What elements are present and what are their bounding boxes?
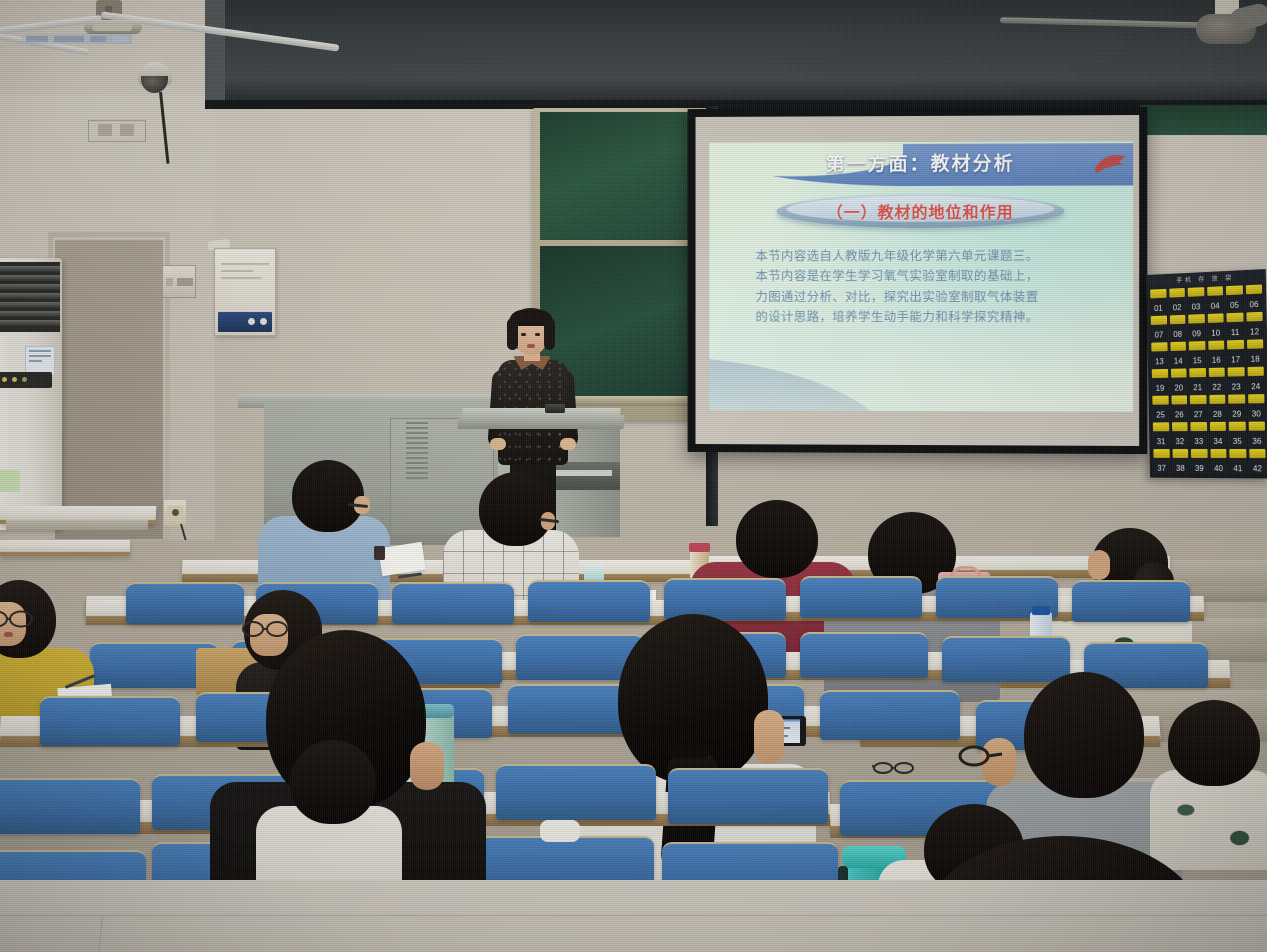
pocket-flap xyxy=(1172,422,1188,431)
pocket-number: 07 xyxy=(1150,330,1168,339)
pocket-number: 26 xyxy=(1170,410,1188,419)
desk-shelf xyxy=(6,520,148,530)
pocket-number: 15 xyxy=(1188,356,1206,365)
pocket-flap xyxy=(1248,394,1265,403)
pocket-flap xyxy=(1246,312,1263,322)
pocket-slot[interactable]: 36 xyxy=(1247,421,1266,447)
pocket-slot[interactable]: 14 xyxy=(1169,341,1187,367)
pocket-flap xyxy=(1151,342,1167,351)
pocket-flap xyxy=(1172,449,1188,458)
floor-seam xyxy=(0,915,1267,916)
pocket-slot[interactable]: 05 xyxy=(1225,284,1244,311)
projection-screen: 第一方面：教材分析 （一）教材的地位和作用 本节内容选自人教版九年级化学第六单元… xyxy=(688,107,1148,454)
pocket-flap xyxy=(1208,340,1224,349)
pocket-number: 08 xyxy=(1169,330,1187,340)
pocket-flap xyxy=(1191,449,1207,458)
lectern-top xyxy=(461,408,620,424)
pocket-slot[interactable]: 32 xyxy=(1171,421,1189,447)
pocket-number: 22 xyxy=(1208,383,1226,392)
ceiling-side-strip xyxy=(205,0,225,108)
pocket-number: 31 xyxy=(1152,437,1170,446)
pocket-slot[interactable]: 02 xyxy=(1168,287,1186,314)
pocket-number: 24 xyxy=(1246,382,1265,391)
pocket-number: 39 xyxy=(1190,464,1208,473)
pocket-number: 38 xyxy=(1171,464,1189,473)
pocket-slot[interactable]: 15 xyxy=(1188,340,1207,366)
slide-title-decoration xyxy=(1093,149,1127,175)
pocket-number: 02 xyxy=(1168,303,1186,313)
pocket-slot[interactable]: 17 xyxy=(1226,339,1245,366)
pocket-slot[interactable]: 25 xyxy=(1151,395,1169,421)
pocket-slot[interactable]: 35 xyxy=(1228,421,1247,447)
hand-holding-pen xyxy=(374,546,385,560)
pocket-flap xyxy=(1170,368,1186,377)
pocket-flap xyxy=(1153,422,1169,431)
pocket-flap xyxy=(1210,449,1226,458)
chair[interactable] xyxy=(40,696,180,746)
pocket-number: 35 xyxy=(1228,437,1247,446)
pocket-flap xyxy=(1190,395,1206,404)
audience-person xyxy=(443,472,585,592)
slide-body-line: 本节内容是在学生学习氧气实验室制取的基础上， xyxy=(755,266,1094,286)
slide-body-line: 本节内容选自人教版九年级化学第六单元课题三。 xyxy=(755,246,1094,266)
pocket-number: 23 xyxy=(1227,382,1246,391)
pocket-slot[interactable]: 06 xyxy=(1244,283,1263,310)
pocket-slot[interactable]: 31 xyxy=(1152,421,1170,447)
pocket-slot[interactable]: 37 xyxy=(1152,448,1170,474)
pocket-grid: 0102030405060708091011121314151617181920… xyxy=(1149,283,1267,474)
pocket-flap xyxy=(1207,313,1223,323)
pocket-flap xyxy=(1228,394,1245,403)
pocket-flap xyxy=(1227,340,1244,350)
chair[interactable] xyxy=(668,768,828,824)
pocket-number: 17 xyxy=(1226,355,1245,365)
pocket-slot[interactable]: 27 xyxy=(1189,394,1208,420)
pocket-slot[interactable]: 40 xyxy=(1209,448,1228,474)
pocket-flap xyxy=(1151,316,1167,325)
pocket-number: 05 xyxy=(1225,300,1244,310)
chair[interactable] xyxy=(496,764,656,820)
pocket-number: 40 xyxy=(1209,464,1227,473)
control-panel-label xyxy=(221,253,269,258)
pocket-number: 13 xyxy=(1151,357,1169,366)
pocket-slot[interactable]: 24 xyxy=(1246,366,1265,393)
floor xyxy=(0,880,1267,952)
audience-person xyxy=(1150,700,1267,850)
audience-person xyxy=(256,740,406,870)
pocket-number: 29 xyxy=(1227,410,1246,419)
pocket-number: 16 xyxy=(1207,356,1225,365)
pocket-slot[interactable]: 20 xyxy=(1169,367,1187,393)
chair[interactable] xyxy=(800,576,922,618)
pocket-slot[interactable]: 03 xyxy=(1187,286,1206,313)
bottle-cap xyxy=(1032,606,1050,615)
slide-body-line: 的设计思路，培养学生动手能力和科学探究精神。 xyxy=(755,307,1094,328)
pocket-number: 14 xyxy=(1169,357,1187,366)
pocket-number: 25 xyxy=(1152,410,1170,419)
pocket-flap xyxy=(1170,342,1186,351)
pocket-number: 01 xyxy=(1150,304,1168,314)
pocket-slot[interactable]: 16 xyxy=(1207,339,1226,366)
pocket-flap xyxy=(1209,422,1225,431)
pocket-flap xyxy=(1171,395,1187,404)
chair[interactable] xyxy=(820,690,960,740)
pocket-slot[interactable]: 08 xyxy=(1168,314,1186,340)
glasses-icon xyxy=(958,744,1028,768)
pocket-slot[interactable]: 41 xyxy=(1228,448,1247,474)
glasses-icon xyxy=(0,610,34,628)
slide-body-text: 本节内容选自人教版九年级化学第六单元课题三。 本节内容是在学生学习氧气实验室制取… xyxy=(755,246,1094,327)
pocket-slot[interactable]: 33 xyxy=(1189,421,1208,447)
chair[interactable] xyxy=(126,582,244,624)
pocket-flap xyxy=(1169,315,1185,325)
pocket-slot[interactable]: 21 xyxy=(1188,367,1207,393)
pocket-slot[interactable]: 34 xyxy=(1208,421,1227,447)
pocket-flap xyxy=(1226,285,1243,295)
pocket-number: 41 xyxy=(1229,464,1248,473)
pocket-slot[interactable]: 39 xyxy=(1190,448,1209,474)
pocket-slot[interactable]: 26 xyxy=(1170,394,1188,420)
pocket-slot[interactable]: 30 xyxy=(1247,393,1266,420)
powerpoint-toolbar-remnant xyxy=(22,34,132,44)
audience-person xyxy=(258,460,398,580)
pocket-flap xyxy=(1226,313,1243,323)
pocket-flap xyxy=(1247,367,1264,376)
pocket-number: 27 xyxy=(1189,410,1207,419)
pocket-number: 20 xyxy=(1170,383,1188,392)
chair[interactable] xyxy=(0,778,140,834)
pocket-flap xyxy=(1207,286,1223,296)
pocket-flap xyxy=(1245,284,1262,294)
pocket-flap xyxy=(1150,289,1166,299)
microphone[interactable] xyxy=(545,404,565,413)
pocket-slot[interactable]: 23 xyxy=(1227,366,1246,393)
pocket-flap xyxy=(1189,341,1205,350)
slide-background-curve xyxy=(709,356,894,411)
pocket-number: 28 xyxy=(1208,410,1226,419)
pocket-slot[interactable]: 18 xyxy=(1245,338,1264,365)
pocket-slot[interactable]: 11 xyxy=(1225,312,1244,339)
pocket-number: 09 xyxy=(1188,329,1206,339)
ceiling-slab xyxy=(205,0,1267,106)
pocket-number: 33 xyxy=(1190,437,1208,446)
pocket-flap xyxy=(1228,367,1245,376)
tissue xyxy=(540,820,580,842)
pocket-flap xyxy=(1229,449,1246,458)
pocket-number: 11 xyxy=(1226,328,1245,338)
pocket-number: 06 xyxy=(1245,300,1264,310)
pocket-number: 37 xyxy=(1153,464,1171,473)
pocket-slot[interactable]: 10 xyxy=(1206,312,1225,339)
pocket-flap xyxy=(1246,339,1263,349)
desk xyxy=(0,540,130,556)
presentation-slide: 第一方面：教材分析 （一）教材的地位和作用 本节内容选自人教版九年级化学第六单元… xyxy=(709,141,1133,412)
pocket-flap xyxy=(1152,369,1168,378)
pocket-flap xyxy=(1152,396,1168,405)
chair[interactable] xyxy=(1072,580,1190,622)
pocket-slot[interactable]: 38 xyxy=(1171,448,1189,474)
pocket-slot[interactable]: 09 xyxy=(1187,313,1206,340)
pocket-slot[interactable]: 01 xyxy=(1149,288,1167,314)
pocket-flap xyxy=(1169,288,1185,298)
chalkboard-right-section xyxy=(1140,105,1267,135)
glasses-on-desk-icon xyxy=(872,760,916,774)
pocket-number: 10 xyxy=(1207,328,1225,338)
pocket-slot[interactable]: 12 xyxy=(1245,311,1264,338)
pocket-number: 04 xyxy=(1206,301,1224,311)
wall-switch-box[interactable] xyxy=(162,265,196,298)
slide-subtitle: （一）教材的地位和作用 xyxy=(709,199,1133,224)
pocket-flap xyxy=(1209,395,1225,404)
pocket-slot[interactable]: 19 xyxy=(1151,368,1169,394)
chair[interactable] xyxy=(392,582,514,624)
pocket-number: 21 xyxy=(1189,383,1207,392)
pocket-number: 12 xyxy=(1245,327,1264,337)
pocket-slot[interactable]: 28 xyxy=(1208,394,1227,420)
phone-pocket-chart: 手机 存 放 袋 0102030405060708091011121314151… xyxy=(1146,269,1267,478)
pocket-flap xyxy=(1229,422,1246,431)
slide-body-line: 力图通过分析、对比，探究出实验室制取气体装置 xyxy=(755,286,1094,306)
pocket-number: 18 xyxy=(1246,354,1265,364)
pocket-slot[interactable]: 29 xyxy=(1227,393,1246,419)
pocket-flap xyxy=(1249,449,1266,458)
pocket-slot[interactable]: 22 xyxy=(1207,367,1226,393)
classroom-scene: 第一方面：教材分析 （一）教材的地位和作用 本节内容选自人教版九年级化学第六单元… xyxy=(0,0,1267,952)
pocket-number: 36 xyxy=(1247,437,1266,446)
pocket-number: 03 xyxy=(1187,302,1205,312)
pocket-slot[interactable]: 07 xyxy=(1150,315,1168,341)
pocket-flap xyxy=(1248,422,1265,431)
pocket-flap xyxy=(1188,287,1204,297)
pocket-flap xyxy=(1189,368,1205,377)
pocket-slot[interactable]: 04 xyxy=(1206,285,1225,312)
pocket-flap xyxy=(1190,422,1206,431)
pocket-slot[interactable]: 42 xyxy=(1248,448,1267,474)
pocket-flap xyxy=(1188,314,1204,324)
pocket-number: 30 xyxy=(1247,409,1266,418)
pocket-number: 19 xyxy=(1151,384,1169,393)
pocket-number: 32 xyxy=(1171,437,1189,446)
pocket-slot[interactable]: 13 xyxy=(1150,341,1168,367)
pocket-flap xyxy=(1153,449,1169,458)
slide-title: 第一方面：教材分析 xyxy=(709,148,1133,176)
door-frame xyxy=(48,232,170,544)
pocket-flap xyxy=(1208,368,1224,377)
chalkboard-upper xyxy=(540,112,708,240)
pocket-number: 34 xyxy=(1209,437,1227,446)
pocket-number: 42 xyxy=(1248,464,1267,473)
